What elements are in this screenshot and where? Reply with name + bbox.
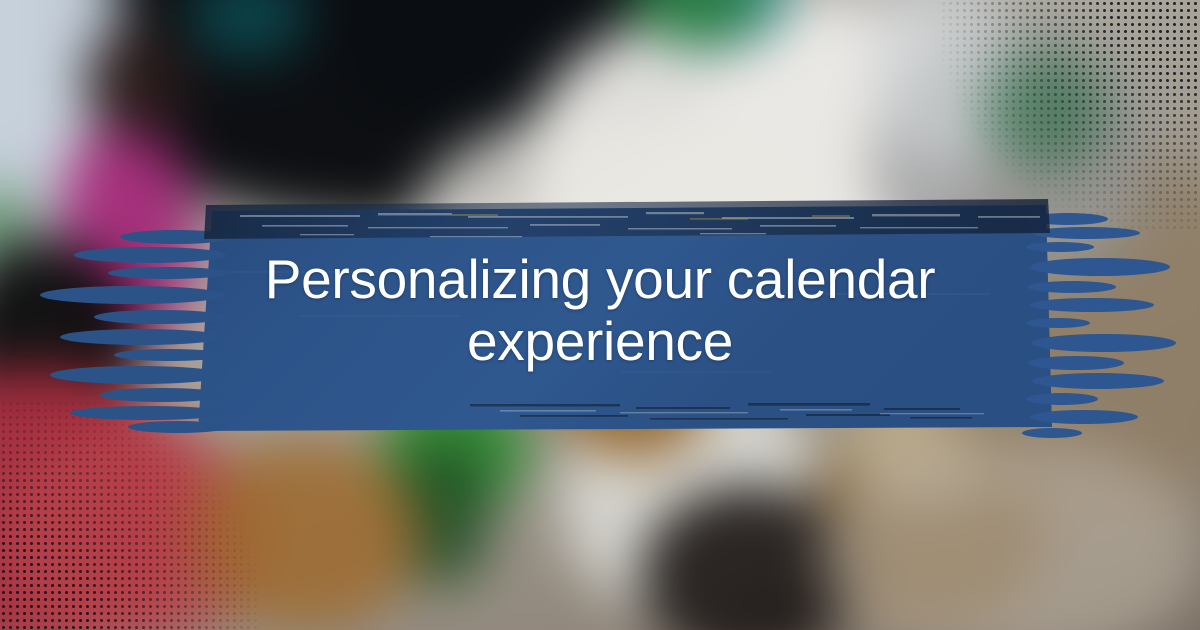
page-title: Personalizing your calendar experience: [0, 248, 1200, 372]
bg-shape-floor-pale: [820, 440, 1200, 630]
bg-shape-plant-right: [980, 50, 1110, 170]
bg-shape-person-magenta-head: [85, 25, 190, 140]
bg-shape-person-tan: [190, 440, 420, 630]
share-card: Personalizing your calendar experience: [0, 0, 1200, 630]
